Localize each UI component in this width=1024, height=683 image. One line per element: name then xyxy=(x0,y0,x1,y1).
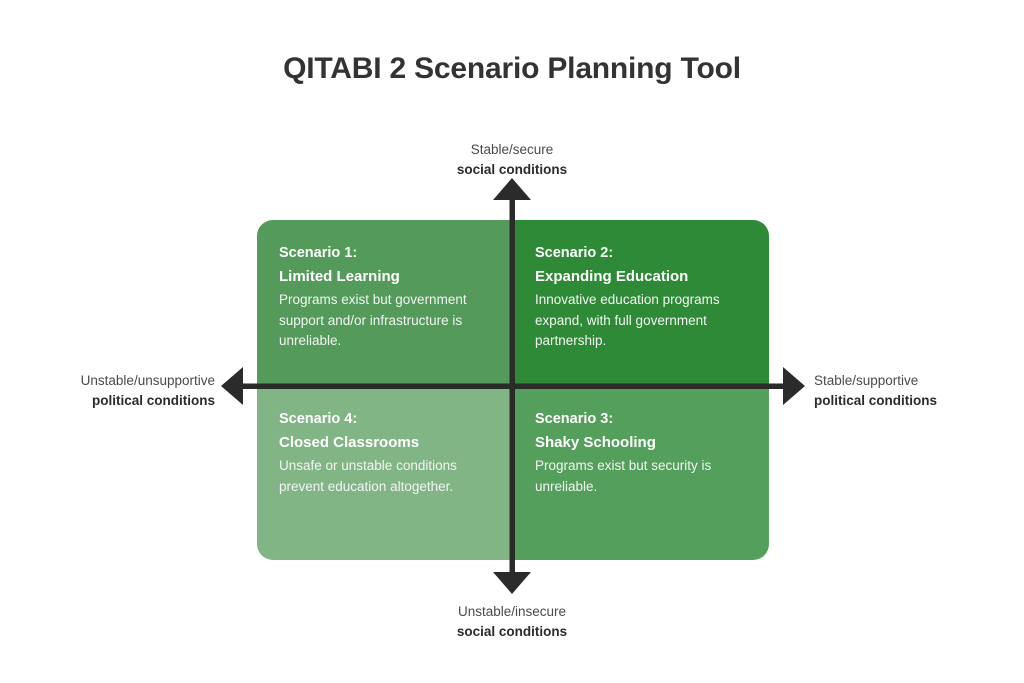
arrow-up-icon xyxy=(493,178,531,200)
quadrant-scenario-1[interactable]: Scenario 1: Limited Learning Programs ex… xyxy=(257,220,513,386)
axis-label-bottom-line2: social conditions xyxy=(392,622,632,642)
axis-label-left: Unstable/unsupportive political conditio… xyxy=(10,371,215,410)
axis-label-bottom: Unstable/insecure social conditions xyxy=(392,602,632,641)
quadrant-scenario-4[interactable]: Scenario 4: Closed Classrooms Unsafe or … xyxy=(257,386,513,560)
axis-label-bottom-line1: Unstable/insecure xyxy=(392,602,632,622)
quadrant-scenario-2[interactable]: Scenario 2: Expanding Education Innovati… xyxy=(513,220,769,386)
axis-label-left-line1: Unstable/unsupportive xyxy=(10,371,215,391)
axis-label-right: Stable/supportive political conditions xyxy=(814,371,1019,410)
arrow-left-icon xyxy=(221,367,243,405)
quadrant-description: Programs exist but security is unreliabl… xyxy=(535,456,745,497)
quadrant-scenario-label: Scenario 2: xyxy=(535,242,745,265)
quadrant-scenario-label: Scenario 3: xyxy=(535,408,745,431)
quadrant-scenario-name: Expanding Education xyxy=(535,265,745,288)
axis-label-top: Stable/secure social conditions xyxy=(392,140,632,179)
axis-label-right-line1: Stable/supportive xyxy=(814,371,1019,391)
quadrant-description: Unsafe or unstable conditions prevent ed… xyxy=(279,456,489,497)
axis-label-top-line1: Stable/secure xyxy=(392,140,632,160)
quadrant-description: Programs exist but government support an… xyxy=(279,290,489,352)
arrow-right-icon xyxy=(783,367,805,405)
quadrant-scenario-name: Closed Classrooms xyxy=(279,431,489,454)
quadrant-scenario-name: Shaky Schooling xyxy=(535,431,745,454)
arrow-down-icon xyxy=(493,572,531,594)
scenario-quadrant-matrix: Scenario 1: Limited Learning Programs ex… xyxy=(257,220,769,560)
quadrant-scenario-name: Limited Learning xyxy=(279,265,489,288)
page-title: QITABI 2 Scenario Planning Tool xyxy=(0,52,1024,86)
axis-label-left-line2: political conditions xyxy=(10,391,215,411)
quadrant-scenario-label: Scenario 4: xyxy=(279,408,489,431)
axis-label-right-line2: political conditions xyxy=(814,391,1019,411)
quadrant-scenario-label: Scenario 1: xyxy=(279,242,489,265)
quadrant-description: Innovative education programs expand, wi… xyxy=(535,290,745,352)
axis-label-top-line2: social conditions xyxy=(392,160,632,180)
scenario-matrix-canvas: QITABI 2 Scenario Planning Tool Scenario… xyxy=(0,0,1024,683)
quadrant-scenario-3[interactable]: Scenario 3: Shaky Schooling Programs exi… xyxy=(513,386,769,560)
